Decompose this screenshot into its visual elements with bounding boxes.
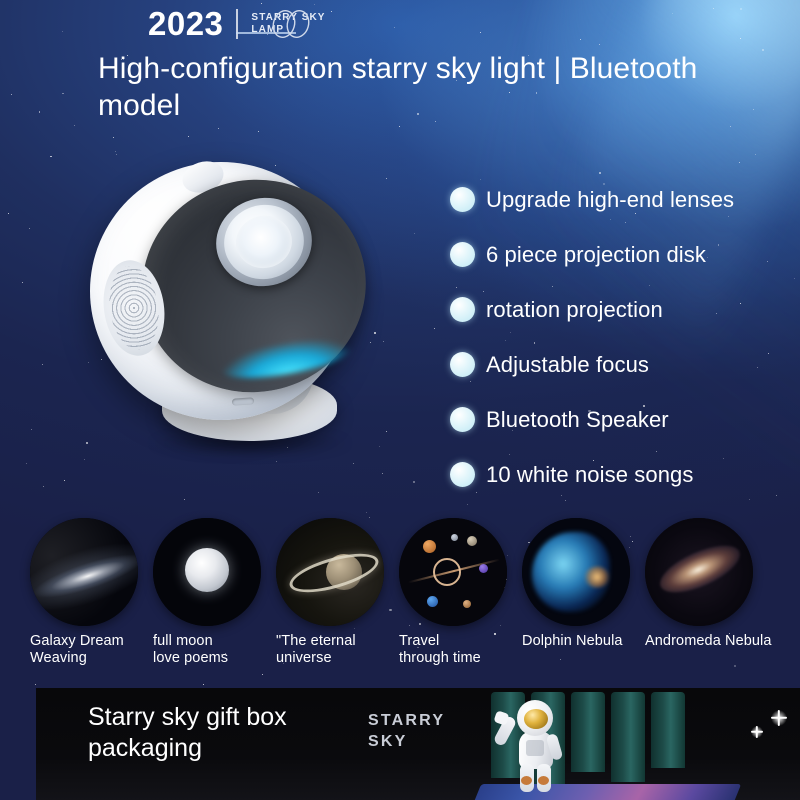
thumbnail-image-moon [153, 518, 261, 626]
feature-item: 6 piece projection disk [450, 227, 734, 282]
feature-label: Bluetooth Speaker [486, 407, 669, 433]
feature-label: Adjustable focus [486, 352, 649, 378]
bullet-dot-icon [450, 407, 475, 432]
poster-canvas: 2023 STARRY SKY LAMP High-configuration … [0, 0, 800, 800]
bullet-dot-icon [450, 297, 475, 322]
projection-disk-gallery: Galaxy Dream Weaving full moon love poem… [0, 518, 800, 678]
thumbnail-image-saturn [276, 518, 384, 626]
thumbnail-item[interactable]: Andromeda Nebula [645, 518, 795, 650]
bullet-dot-icon [450, 462, 475, 487]
banner-title: Starry sky gift box packaging [88, 702, 287, 764]
gift-box-banner: Starry sky gift box packaging STARRY SKY [36, 688, 800, 800]
bullet-dot-icon [450, 352, 475, 377]
bullet-dot-icon [450, 187, 475, 212]
thumbnail-item[interactable]: "The eternal universe [276, 518, 388, 667]
thumbnail-item[interactable]: Galaxy Dream Weaving [30, 518, 142, 667]
thumbnail-image-galaxy [30, 518, 138, 626]
thumbnail-caption: full moon love poems [153, 633, 265, 667]
feature-label: 10 white noise songs [486, 462, 693, 488]
feature-item: Adjustable focus [450, 337, 734, 392]
header-divider [236, 9, 238, 39]
product-lens-inner [231, 211, 297, 274]
page-title: High-configuration starry sky light | Bl… [98, 50, 718, 124]
astronaut-figurine-icon [491, 700, 577, 792]
thumbnail-item[interactable]: Dolphin Nebula [522, 518, 652, 650]
product-body [90, 162, 352, 420]
header-year: 2023 [148, 6, 223, 42]
banner-wordmark: STARRY SKY [368, 710, 445, 752]
feature-label: rotation projection [486, 297, 663, 323]
sparkle-icon [771, 710, 787, 726]
feature-label: 6 piece projection disk [486, 242, 706, 268]
feature-item: Bluetooth Speaker [450, 392, 734, 447]
product-image [62, 140, 392, 485]
feature-list: Upgrade high-end lenses 6 piece projecti… [450, 172, 734, 502]
overlapping-circles-logo-icon [264, 8, 320, 40]
feature-label: Upgrade high-end lenses [486, 187, 734, 213]
thumbnail-image-travel [399, 518, 507, 626]
bullet-dot-icon [450, 242, 475, 267]
feature-item: rotation projection [450, 282, 734, 337]
sparkle-icon [751, 726, 763, 738]
thumbnail-caption: Galaxy Dream Weaving [30, 633, 142, 667]
thumbnail-item[interactable]: full moon love poems [153, 518, 265, 667]
thumbnail-caption: Dolphin Nebula [522, 633, 652, 650]
thumbnail-caption: "The eternal universe [276, 633, 388, 667]
thumbnail-caption: Travel through time [399, 633, 511, 667]
feature-item: Upgrade high-end lenses [450, 172, 734, 227]
thumbnail-image-andromeda-nebula [645, 518, 753, 626]
thumbnail-item[interactable]: Travel through time [399, 518, 511, 667]
feature-item: 10 white noise songs [450, 447, 734, 502]
product-lens-mid [217, 197, 311, 286]
thumbnail-caption: Andromeda Nebula [645, 633, 795, 650]
thumbnail-image-dolphin-nebula [522, 518, 630, 626]
